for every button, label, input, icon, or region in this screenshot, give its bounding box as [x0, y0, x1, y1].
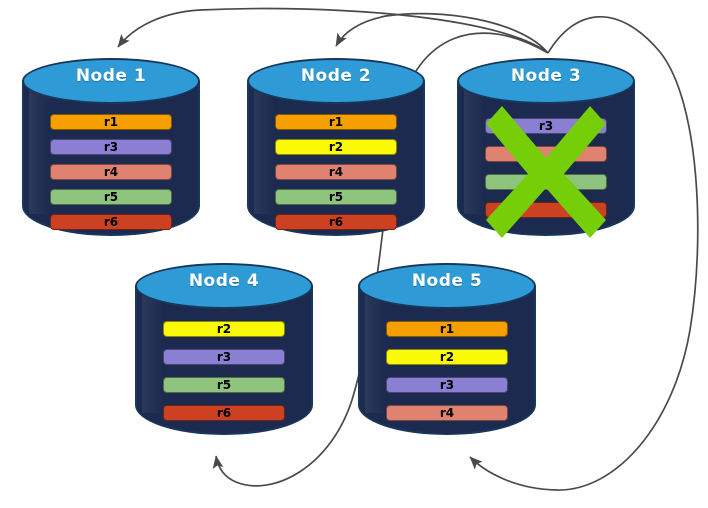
replica-bar[interactable] — [485, 146, 606, 162]
replica-bar[interactable]: r3 — [163, 349, 284, 365]
replica-bar[interactable]: r4 — [50, 164, 171, 180]
replica-bar[interactable]: r3 — [50, 139, 171, 155]
replica-bar[interactable]: r1 — [50, 114, 171, 130]
replica-list: r1 r2 r4 r5 r6 — [247, 114, 425, 239]
replica-bar[interactable]: r3 — [485, 118, 606, 134]
replica-bar[interactable]: r4 — [275, 164, 396, 180]
arrow-to-node-1 — [118, 9, 548, 53]
replica-bar[interactable]: r6 — [275, 214, 396, 230]
arrow-to-node-2 — [336, 14, 548, 53]
replica-list: r2 r3 r5 r6 — [135, 321, 313, 433]
node-label: Node 2 — [247, 66, 425, 86]
replica-bar[interactable]: r2 — [386, 349, 507, 365]
replica-bar[interactable]: r2 — [163, 321, 284, 337]
node-3[interactable]: Node 3 r3 — [457, 58, 635, 236]
node-4[interactable]: Node 4 r2 r3 r5 r6 — [135, 263, 313, 435]
replica-list: r3 — [457, 118, 635, 230]
replica-list: r1 r3 r4 r5 r6 — [22, 114, 200, 239]
replica-bar[interactable]: r2 — [275, 139, 396, 155]
node-label: Node 4 — [135, 271, 313, 291]
replica-bar[interactable]: r1 — [386, 321, 507, 337]
node-2[interactable]: Node 2 r1 r2 r4 r5 r6 — [247, 58, 425, 236]
replica-list: r1 r2 r3 r4 — [358, 321, 536, 433]
replica-bar[interactable]: r6 — [50, 214, 171, 230]
node-label: Node 3 — [457, 66, 635, 86]
replica-bar[interactable]: r1 — [275, 114, 396, 130]
node-1[interactable]: Node 1 r1 r3 r4 r5 r6 — [22, 58, 200, 236]
node-5[interactable]: Node 5 r1 r2 r3 r4 — [358, 263, 536, 435]
diagram-canvas: Node 1 r1 r3 r4 r5 r6 Node 2 r1 r2 r4 r5… — [0, 0, 708, 508]
replica-bar[interactable]: r3 — [386, 377, 507, 393]
node-label: Node 1 — [22, 66, 200, 86]
replica-bar[interactable]: r6 — [163, 405, 284, 421]
replica-bar[interactable] — [485, 174, 606, 190]
replica-bar[interactable]: r4 — [386, 405, 507, 421]
replica-bar[interactable]: r5 — [163, 377, 284, 393]
replica-bar[interactable]: r5 — [50, 189, 171, 205]
replica-bar[interactable]: r5 — [275, 189, 396, 205]
replica-bar[interactable] — [485, 202, 606, 218]
node-label: Node 5 — [358, 271, 536, 291]
